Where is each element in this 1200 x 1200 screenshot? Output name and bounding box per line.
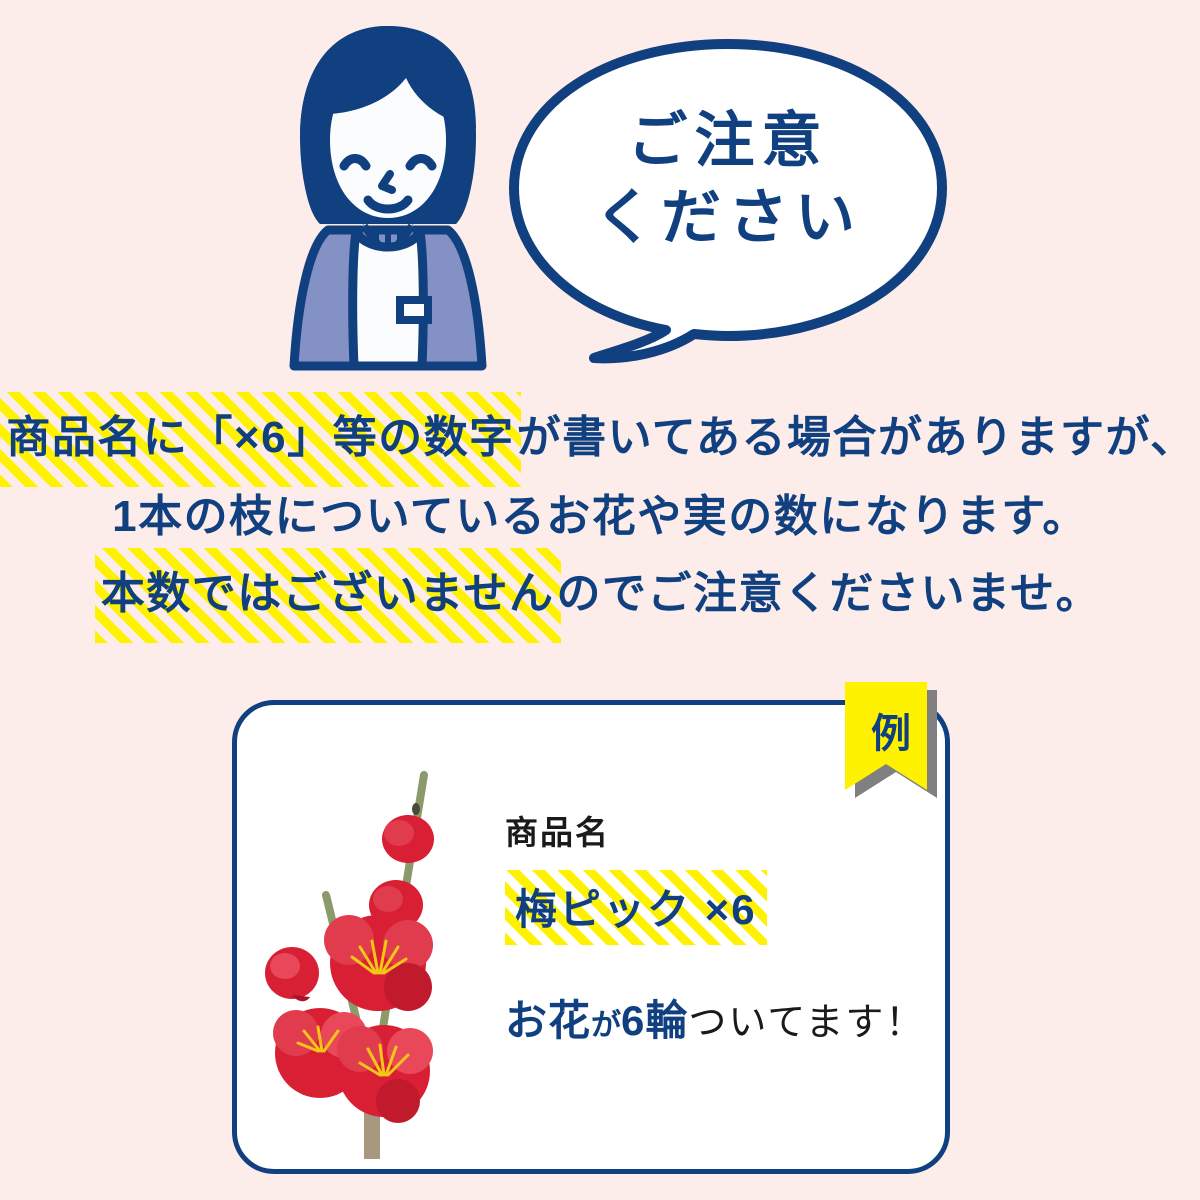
speech-bubble xyxy=(498,30,958,370)
card-note-count: 6 xyxy=(621,997,645,1044)
card-note-strong-1: お花 xyxy=(505,997,591,1044)
plum-bud-3 xyxy=(265,947,319,1001)
product-name-label: 商品名 xyxy=(505,812,965,854)
notice-line-3-highlight: 本数ではございません xyxy=(99,554,557,635)
notice-line-1-highlight: 商品名に「×6」等の数字 xyxy=(4,398,516,479)
notice-line-2-plain: 1本の枝についているお花や実の数になります。 xyxy=(112,492,1088,541)
product-name-highlight: 梅ピック ×6 xyxy=(505,870,767,945)
notice-line-3: 本数ではございませんのでご注意くださいませ。 xyxy=(0,554,1200,635)
header-section: ご注意 ください xyxy=(0,0,1200,390)
plum-flower-1 xyxy=(324,915,433,1011)
notice-line-3-plain: のでご注意くださいませ。 xyxy=(557,569,1102,618)
shop-staff-icon xyxy=(268,18,508,378)
notice-line-2: 1本の枝についているお花や実の数になります。 xyxy=(0,479,1200,554)
plum-branch-illustration xyxy=(248,735,508,1165)
card-note: お花が6輪ついてます！ xyxy=(505,987,965,1048)
notice-line-1: 商品名に「×6」等の数字が書いてある場合がありますが、 xyxy=(0,398,1200,479)
notice-message: 商品名に「×6」等の数字が書いてある場合がありますが、 1本の枝についているお花… xyxy=(0,398,1200,635)
product-name-value: 梅ピック ×6 xyxy=(515,886,757,933)
plum-flower-3 xyxy=(337,1025,433,1123)
card-note-counter: 輪 xyxy=(645,997,688,1044)
card-note-small-1: が xyxy=(591,1009,621,1042)
notice-line-1-plain: が書いてある場合がありますが、 xyxy=(517,413,1196,462)
plum-bud-1 xyxy=(382,815,434,863)
card-text-block: 商品名 梅ピック ×6 お花が6輪ついてます！ xyxy=(505,812,965,1048)
example-ribbon-tag xyxy=(845,682,937,802)
card-note-plain: ついてます！ xyxy=(688,1002,925,1044)
